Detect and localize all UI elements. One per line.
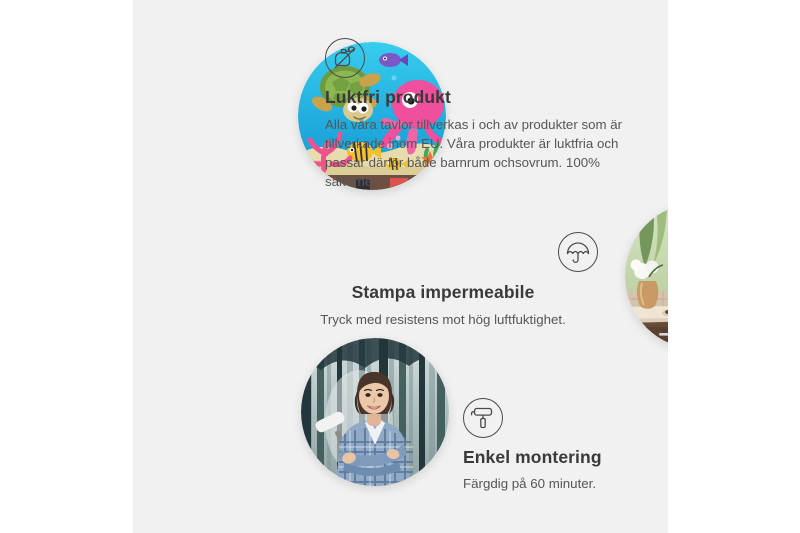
bathroom-illustration [625,203,668,349]
feature-waterproof: Stampa impermeabile Tryck med resistens … [288,232,598,329]
feature-odourless-icon-wrap [325,38,625,78]
feature-easy-mount: Enkel montering Färgdig på 60 minuter. [463,398,668,493]
feature-easy-mount-description: Färgdig på 60 minuter. [463,474,668,493]
feature-odourless-description: Alla våra tavlor tillverkas i och av pro… [325,115,625,191]
woman-painter-forest-photo [301,338,449,486]
feature-odourless: Luktfri produkt Alla våra tavlor tillver… [325,38,625,191]
feature-waterproof-title: Stampa impermeabile [288,282,598,304]
paint-roller-icon [463,398,503,438]
paint-roller-glyph [470,405,496,431]
feature-waterproof-description: Tryck med resistens mot hög luftfuktighe… [288,310,598,329]
feature-odourless-title: Luktfri produkt [325,87,625,109]
no-fragrance-icon [325,38,365,78]
umbrella-icon [558,232,598,272]
product-feature-infographic: Luktfri produkt Alla våra tavlor tillver… [0,0,800,533]
bathroom-leaf-wallpaper-photo [625,203,668,349]
feature-waterproof-icon-wrap [288,232,598,272]
umbrella-glyph [565,239,591,265]
feature-easy-mount-icon-wrap [463,398,668,438]
no-fragrance-glyph [332,45,358,71]
feature-easy-mount-title: Enkel montering [463,447,668,469]
forest-painter-illustration [301,338,449,486]
feature-panel: Luktfri produkt Alla våra tavlor tillver… [133,0,668,533]
